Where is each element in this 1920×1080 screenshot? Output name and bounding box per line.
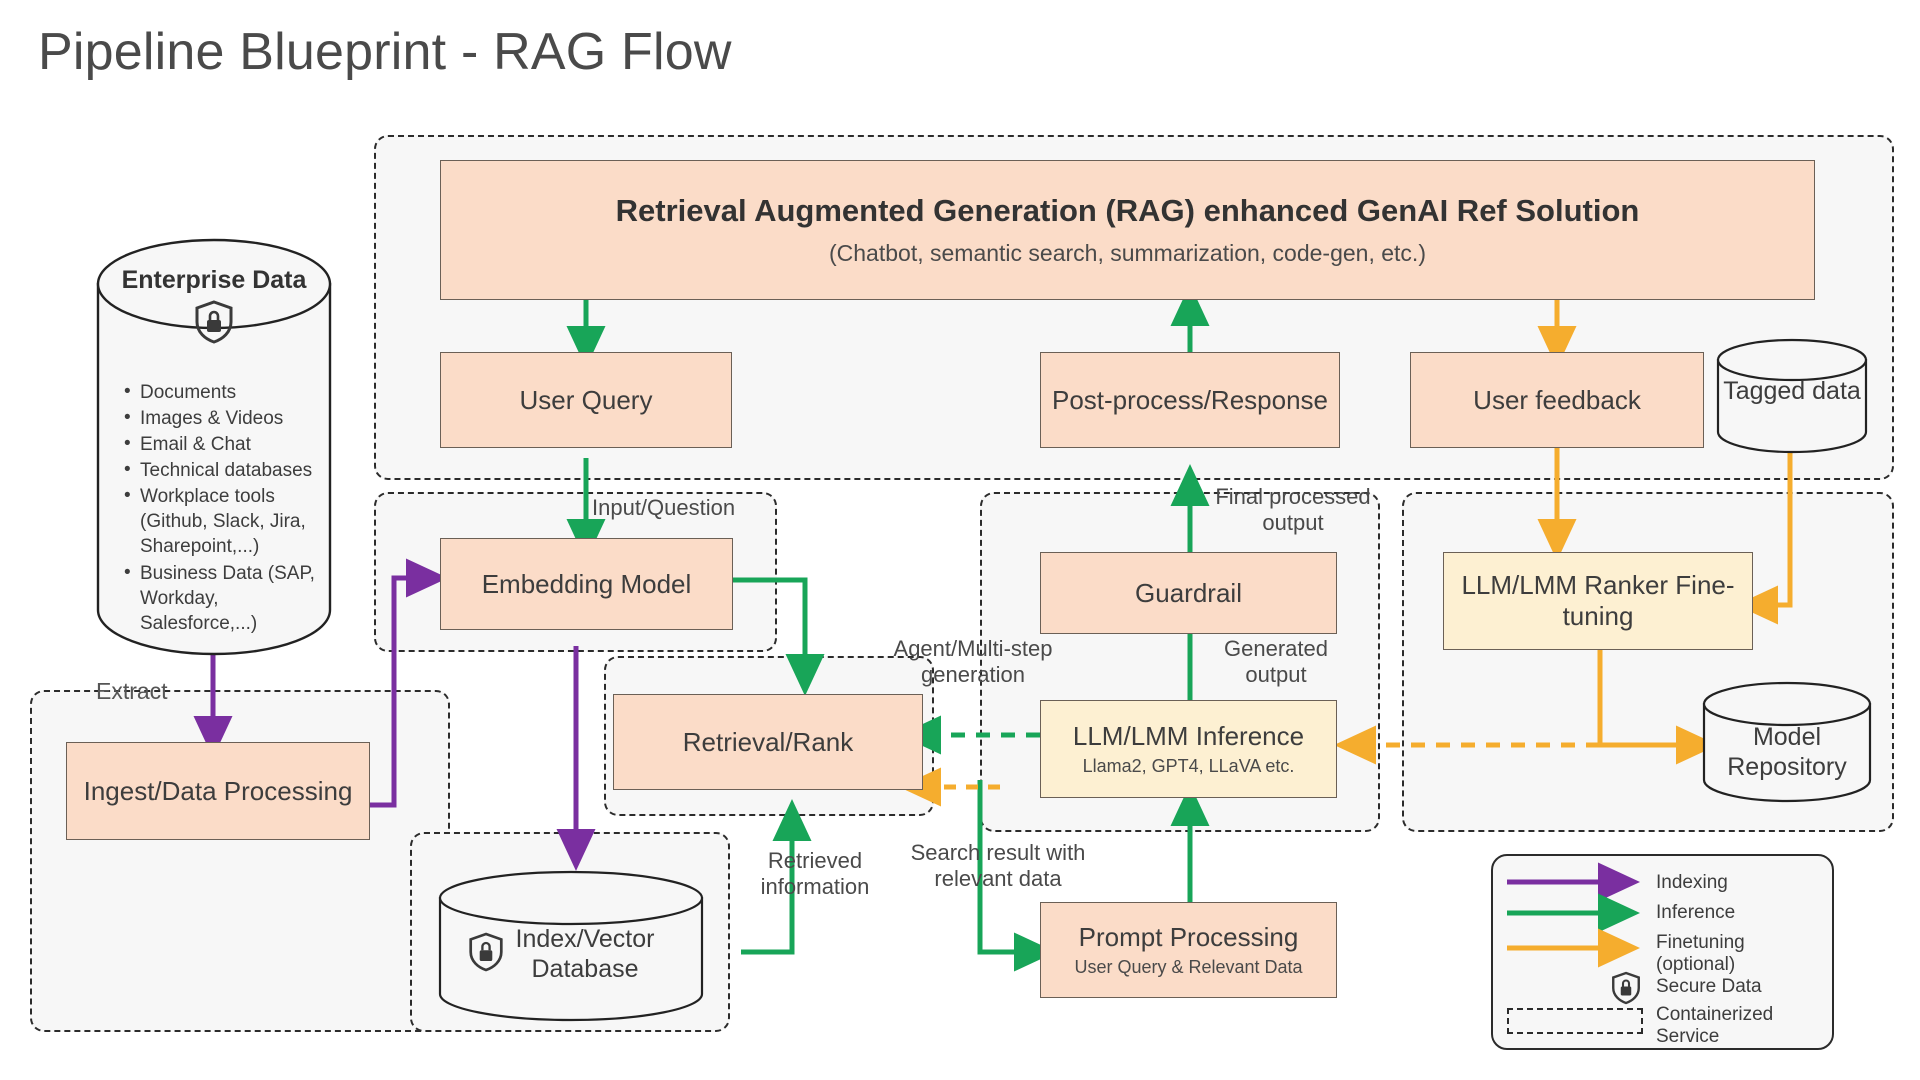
post-process-label: Post-process/Response [1052,385,1328,416]
guardrail-box[interactable]: Guardrail [1040,552,1337,634]
edge-label-final-processed-output: Final processed output [1198,484,1388,536]
embedding-model-label: Embedding Model [482,569,692,600]
enterprise-data-title: Enterprise Data [96,266,332,295]
llm-inference-box[interactable]: LLM/LMM Inference Llama2, GPT4, LLaVA et… [1040,700,1337,798]
guardrail-label: Guardrail [1135,578,1242,609]
list-item: Documents [122,380,318,405]
rag-solution-header-box[interactable]: Retrieval Augmented Generation (RAG) enh… [440,160,1815,300]
legend-label-secure-data: Secure Data [1656,976,1762,998]
enterprise-data-cylinder: Enterprise Data Documents Images & Video… [96,238,332,656]
legend-label-containerized-service: Containerized Service [1656,1004,1826,1048]
page-title: Pipeline Blueprint - RAG Flow [38,22,732,82]
enterprise-data-list: Documents Images & Videos Email & Chat T… [122,380,318,637]
ranker-finetuning-box[interactable]: LLM/LMM Ranker Fine-tuning [1443,552,1753,650]
index-vector-db-label: Index/Vector Database [466,924,704,984]
embedding-model-box[interactable]: Embedding Model [440,538,733,630]
prompt-processing-subtitle: User Query & Relevant Data [1074,957,1302,978]
user-query-box[interactable]: User Query [440,352,732,448]
model-repository-label: Model Repository [1702,722,1872,782]
ingest-data-processing-box[interactable]: Ingest/Data Processing [66,742,370,840]
retrieval-rank-label: Retrieval/Rank [683,727,854,758]
rag-header-title: Retrieval Augmented Generation (RAG) enh… [616,193,1640,230]
legend-panel: Indexing Inference Finetuning (optional)… [1491,854,1834,1050]
tagged-data-cylinder: Tagged data [1716,340,1868,452]
list-item: Technical databases [122,458,318,483]
user-feedback-box[interactable]: User feedback [1410,352,1704,448]
index-vector-db-cylinder: Index/Vector Database [438,872,704,1022]
user-query-label: User Query [520,385,653,416]
container-extract-label: Extract [96,678,168,705]
model-repository-cylinder: Model Repository [1702,682,1872,802]
legend-label-inference: Inference [1656,902,1735,924]
legend-containerized-swatch [1507,1008,1643,1034]
edge-label-generated-output: Generated output [1196,636,1356,688]
edge-label-agent-multistep: Agent/Multi-step generation [878,636,1068,688]
list-item: Images & Videos [122,406,318,431]
tagged-data-label: Tagged data [1716,376,1868,406]
user-feedback-label: User feedback [1473,385,1641,416]
prompt-processing-box[interactable]: Prompt Processing User Query & Relevant … [1040,902,1337,998]
list-item: Business Data (SAP, Workday, Salesforce,… [122,561,318,636]
ranker-finetuning-label: LLM/LMM Ranker Fine-tuning [1444,570,1752,631]
legend-label-finetuning: Finetuning (optional) [1656,932,1826,976]
list-item: Workplace tools (Github, Slack, Jira, Sh… [122,484,318,559]
secure-shield-lock-icon [194,300,234,344]
ingest-label: Ingest/Data Processing [84,776,353,807]
edge-label-input-question: Input/Question [592,495,735,521]
retrieval-rank-box[interactable]: Retrieval/Rank [613,694,923,790]
edge-label-search-result: Search result with relevant data [892,840,1104,892]
post-process-response-box[interactable]: Post-process/Response [1040,352,1340,448]
prompt-processing-label: Prompt Processing [1079,922,1299,953]
legend-label-indexing: Indexing [1656,872,1728,894]
rag-header-subtitle: (Chatbot, semantic search, summarization… [829,240,1426,267]
llm-inference-label: LLM/LMM Inference [1073,721,1304,752]
list-item: Email & Chat [122,432,318,457]
llm-inference-subtitle: Llama2, GPT4, LLaVA etc. [1083,756,1295,777]
secure-shield-lock-icon [1611,971,1641,1005]
edge-label-retrieved-information: Retrieved information [742,848,888,900]
